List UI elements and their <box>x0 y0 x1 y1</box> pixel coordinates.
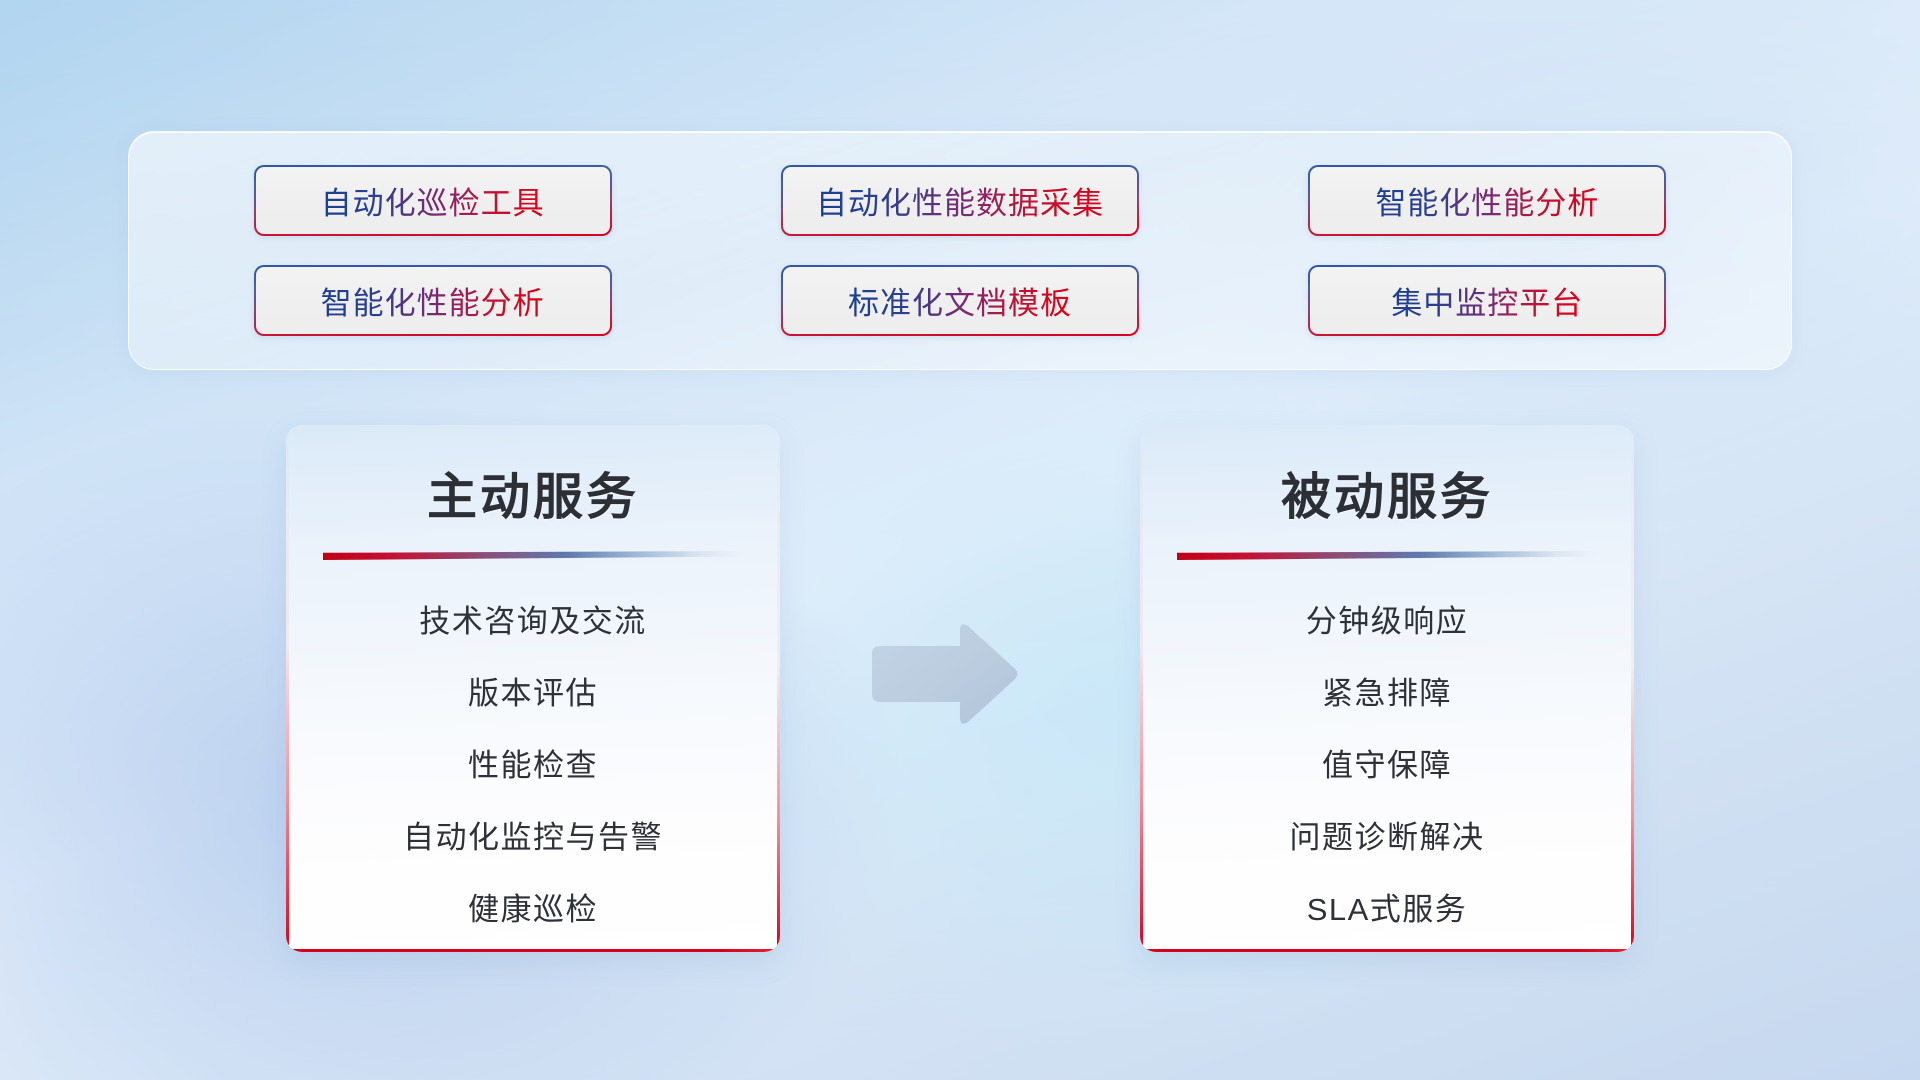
capability-tag-2-label: 智能化性能分析 <box>1375 178 1599 223</box>
capability-tag-3-surface: 智能化性能分析 <box>256 267 610 334</box>
service-card-active-title: 主动服务 <box>286 457 780 529</box>
capability-tag-0-surface: 自动化巡检工具 <box>256 167 610 234</box>
capability-tag-0-label: 自动化巡检工具 <box>321 178 545 223</box>
list-item: SLA式服务 <box>1140 874 1634 946</box>
list-item: 版本评估 <box>286 658 780 730</box>
list-item: 自动化监控与告警 <box>286 802 780 874</box>
capability-tag-1-surface: 自动化性能数据采集 <box>783 167 1137 234</box>
service-card-active-divider <box>323 551 743 560</box>
capability-tag-1[interactable]: 自动化性能数据采集 <box>781 165 1139 236</box>
service-card-active[interactable]: 主动服务 技术咨询及交流 版本评估 性能检查 自动化监控与告警 健康巡检 <box>286 425 780 952</box>
capability-tag-3[interactable]: 智能化性能分析 <box>254 265 612 336</box>
capability-tag-2[interactable]: 智能化性能分析 <box>1308 165 1666 236</box>
capability-tag-0[interactable]: 自动化巡检工具 <box>254 165 612 236</box>
capability-tag-5-label: 集中监控平台 <box>1391 278 1583 323</box>
list-item: 健康巡检 <box>286 874 780 946</box>
list-item: 技术咨询及交流 <box>286 586 780 658</box>
capability-tag-3-label: 智能化性能分析 <box>321 278 545 323</box>
list-item: 分钟级响应 <box>1140 586 1634 658</box>
list-item: 问题诊断解决 <box>1140 802 1634 874</box>
capability-tag-4[interactable]: 标准化文档模板 <box>781 265 1139 336</box>
list-item: 性能检查 <box>286 730 780 802</box>
capability-tag-4-label: 标准化文档模板 <box>848 278 1072 323</box>
service-card-passive-title: 被动服务 <box>1140 457 1634 529</box>
capability-tag-5[interactable]: 集中监控平台 <box>1308 265 1666 336</box>
capability-tag-1-label: 自动化性能数据采集 <box>816 178 1104 223</box>
service-card-passive[interactable]: 被动服务 分钟级响应 紧急排障 值守保障 问题诊断解决 SLA式服务 <box>1140 425 1634 952</box>
list-item: 值守保障 <box>1140 730 1634 802</box>
list-item: 紧急排障 <box>1140 658 1634 730</box>
arrow-right-icon <box>864 620 1022 728</box>
service-card-passive-divider <box>1177 551 1597 560</box>
capability-tags-panel: 自动化巡检工具 自动化性能数据采集 智能化性能分析 智能化性能分析 标准化文档模… <box>128 131 1792 370</box>
capability-tag-5-surface: 集中监控平台 <box>1310 267 1664 334</box>
capability-tag-4-surface: 标准化文档模板 <box>783 267 1137 334</box>
service-card-passive-list: 分钟级响应 紧急排障 值守保障 问题诊断解决 SLA式服务 <box>1140 586 1634 946</box>
card-right-edge <box>1631 425 1634 952</box>
service-card-active-list: 技术咨询及交流 版本评估 性能检查 自动化监控与告警 健康巡检 <box>286 586 780 946</box>
card-right-edge <box>777 425 780 952</box>
capability-tag-2-surface: 智能化性能分析 <box>1310 167 1664 234</box>
